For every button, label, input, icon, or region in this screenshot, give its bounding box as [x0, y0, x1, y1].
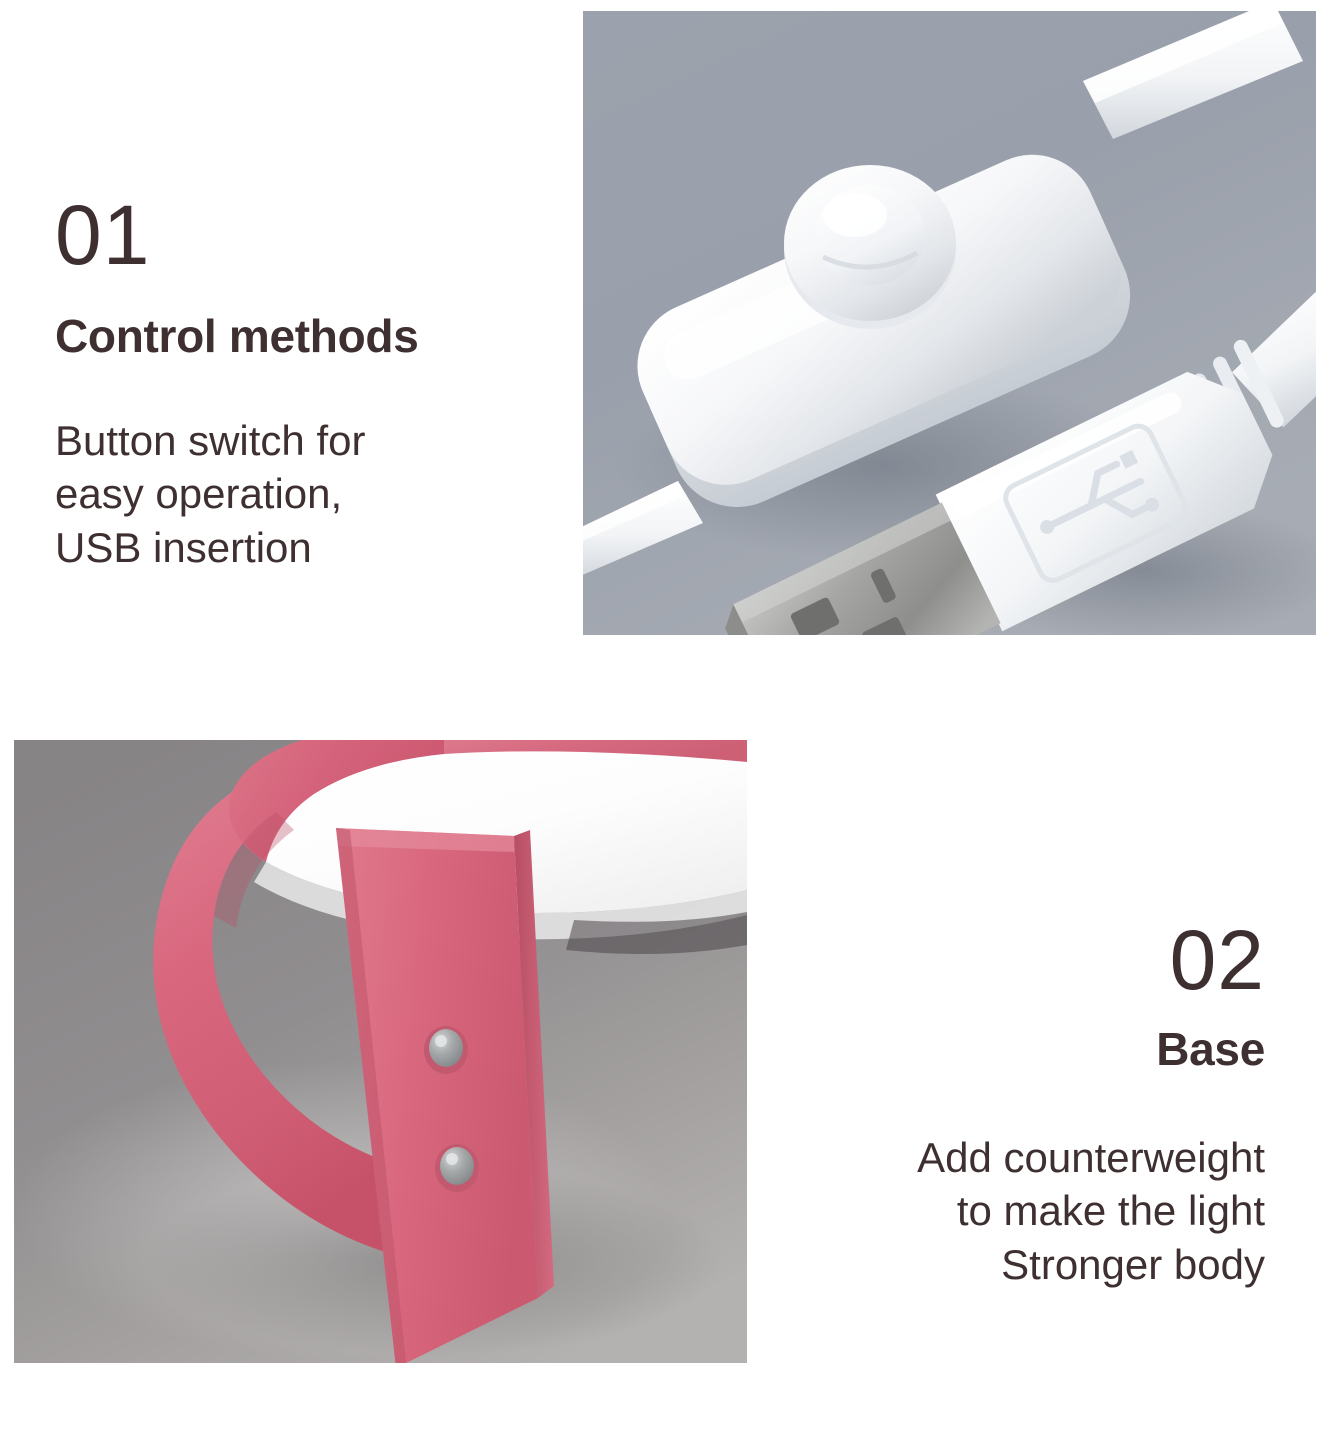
- section-01-body: Button switch for easy operation, USB in…: [55, 414, 555, 575]
- push-button-highlight: [823, 193, 887, 237]
- section-02-body-line: to make the light: [745, 1184, 1265, 1238]
- section-02-body-line: Add counterweight: [745, 1131, 1265, 1185]
- screw: [424, 1026, 468, 1074]
- section-02-heading: Base: [745, 1024, 1265, 1075]
- usb-switch-photo: [583, 11, 1316, 635]
- screw: [435, 1144, 479, 1192]
- section-02-body-line: Stronger body: [745, 1238, 1265, 1292]
- lamp-base-illustration: [14, 740, 747, 1363]
- section-02-body: Add counterweight to make the light Stro…: [745, 1131, 1265, 1292]
- section-02-number: 02: [745, 918, 1265, 1002]
- section-01-text-block: 01 Control methods Button switch for eas…: [55, 193, 555, 575]
- section-01-body-line: easy operation,: [55, 467, 555, 521]
- section-01-heading: Control methods: [55, 311, 555, 362]
- section-01-body-line: USB insertion: [55, 521, 555, 575]
- section-01-body-line: Button switch for: [55, 414, 555, 468]
- section-02-text-block: 02 Base Add counterweight to make the li…: [745, 918, 1265, 1292]
- lamp-base-photo: [14, 740, 747, 1363]
- section-01-number: 01: [55, 193, 555, 277]
- screw-highlight: [446, 1153, 458, 1165]
- screw-head: [429, 1029, 463, 1067]
- screw-head: [440, 1147, 474, 1185]
- push-button[interactable]: [784, 165, 956, 329]
- usb-switch-illustration: [583, 11, 1316, 635]
- screw-highlight: [435, 1035, 447, 1047]
